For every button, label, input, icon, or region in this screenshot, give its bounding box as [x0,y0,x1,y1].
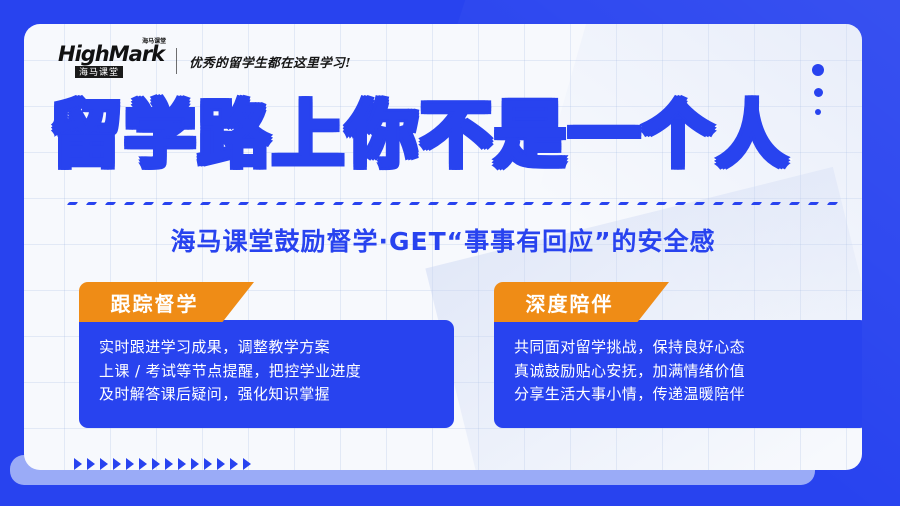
triangle-right-icon [178,458,186,470]
triangle-right-icon [243,458,251,470]
logo-wordmark-text: HighMark [58,42,164,66]
slash-icon [314,202,325,205]
slash-icon [599,202,610,205]
triangle-right-icon [230,458,238,470]
slash-icon [713,202,724,205]
slash-icon [390,202,401,205]
slash-icon [333,202,344,205]
slash-icon [732,202,743,205]
slash-icon [523,202,534,205]
slash-icon [105,202,116,205]
triangle-right-icon [165,458,173,470]
slash-icon [371,202,382,205]
feature-card-line: 分享生活大事小情，传递温暖陪伴 [514,383,849,407]
slash-icon [295,202,306,205]
feature-card-line: 上课 / 考试等节点提醒，把控学业进度 [99,360,434,384]
logo-chinese-label: 海马课堂 [75,66,123,79]
triangle-right-icon [217,458,225,470]
poster-root: HighMark 海马课堂 海马课堂 优秀的留学生都在这里学习! 留学路上你不是… [0,0,900,506]
slash-icon [827,202,838,205]
slash-icon [618,202,629,205]
header-divider [176,48,177,74]
slash-icon [789,202,800,205]
slash-icon [561,202,572,205]
slash-icon [485,202,496,205]
slash-icon [675,202,686,205]
feature-card-line: 及时解答课后疑问，强化知识掌握 [99,383,434,407]
circle-icon [812,64,824,76]
page-title: 留学路上你不是一个人 [50,94,850,177]
slash-icon [694,202,705,205]
slash-icon [219,202,230,205]
brand-tagline: 优秀的留学生都在这里学习! [189,52,351,71]
feature-card-body: 实时跟进学习成果，调整教学方案 上课 / 考试等节点提醒，把控学业进度 及时解答… [79,320,454,428]
decorative-slash-row [68,196,858,210]
slash-icon [751,202,762,205]
triangle-right-icon [152,458,160,470]
feature-card-title: 跟踪督学 [79,282,254,322]
slash-icon [770,202,781,205]
triangle-right-icon [113,458,121,470]
slash-icon [504,202,515,205]
slash-icon [181,202,192,205]
feature-card-line: 实时跟进学习成果，调整教学方案 [99,336,434,360]
triangle-right-icon [139,458,147,470]
brand-header: HighMark 海马课堂 海马课堂 优秀的留学生都在这里学习! [58,40,351,82]
slash-icon [466,202,477,205]
feature-card-line: 真诚鼓励贴心安抚，加满情绪价值 [514,360,849,384]
triangle-right-icon [204,458,212,470]
brand-logo: HighMark 海马课堂 海马课堂 [58,44,164,79]
slash-icon [352,202,363,205]
triangle-right-icon [87,458,95,470]
slash-icon [162,202,173,205]
page-subtitle: 海马课堂鼓励督学·GET“事事有回应”的安全感 [24,222,862,258]
content-panel: HighMark 海马课堂 海马课堂 优秀的留学生都在这里学习! 留学路上你不是… [24,24,862,470]
slash-icon [86,202,97,205]
logo-wordmark: HighMark 海马课堂 [58,44,164,65]
slash-icon [257,202,268,205]
slash-icon [238,202,249,205]
feature-card-line: 共同面对留学挑战，保持良好心态 [514,336,849,360]
slash-icon [124,202,135,205]
slash-icon [428,202,439,205]
slash-icon [276,202,287,205]
triangle-right-icon [74,458,82,470]
slash-icon [656,202,667,205]
slash-icon [580,202,591,205]
slash-icon [67,202,78,205]
feature-card-title: 深度陪伴 [494,282,669,322]
feature-card-group: 跟踪督学 实时跟进学习成果，调整教学方案 上课 / 考试等节点提醒，把控学业进度… [79,282,862,428]
slash-icon [447,202,458,205]
slash-icon [808,202,819,205]
feature-card-companionship: 深度陪伴 共同面对留学挑战，保持良好心态 真诚鼓励贴心安抚，加满情绪价值 分享生… [494,282,862,428]
triangle-right-icon [126,458,134,470]
slash-icon [542,202,553,205]
logo-superscript: 海马课堂 [142,39,166,45]
decorative-arrow-row [74,458,251,470]
feature-card-body: 共同面对留学挑战，保持良好心态 真诚鼓励贴心安抚，加满情绪价值 分享生活大事小情… [494,320,862,428]
slash-icon [200,202,211,205]
slash-icon [637,202,648,205]
triangle-right-icon [100,458,108,470]
feature-card-tracking: 跟踪督学 实时跟进学习成果，调整教学方案 上课 / 考试等节点提醒，把控学业进度… [79,282,454,428]
triangle-right-icon [191,458,199,470]
slash-icon [143,202,154,205]
slash-icon [409,202,420,205]
